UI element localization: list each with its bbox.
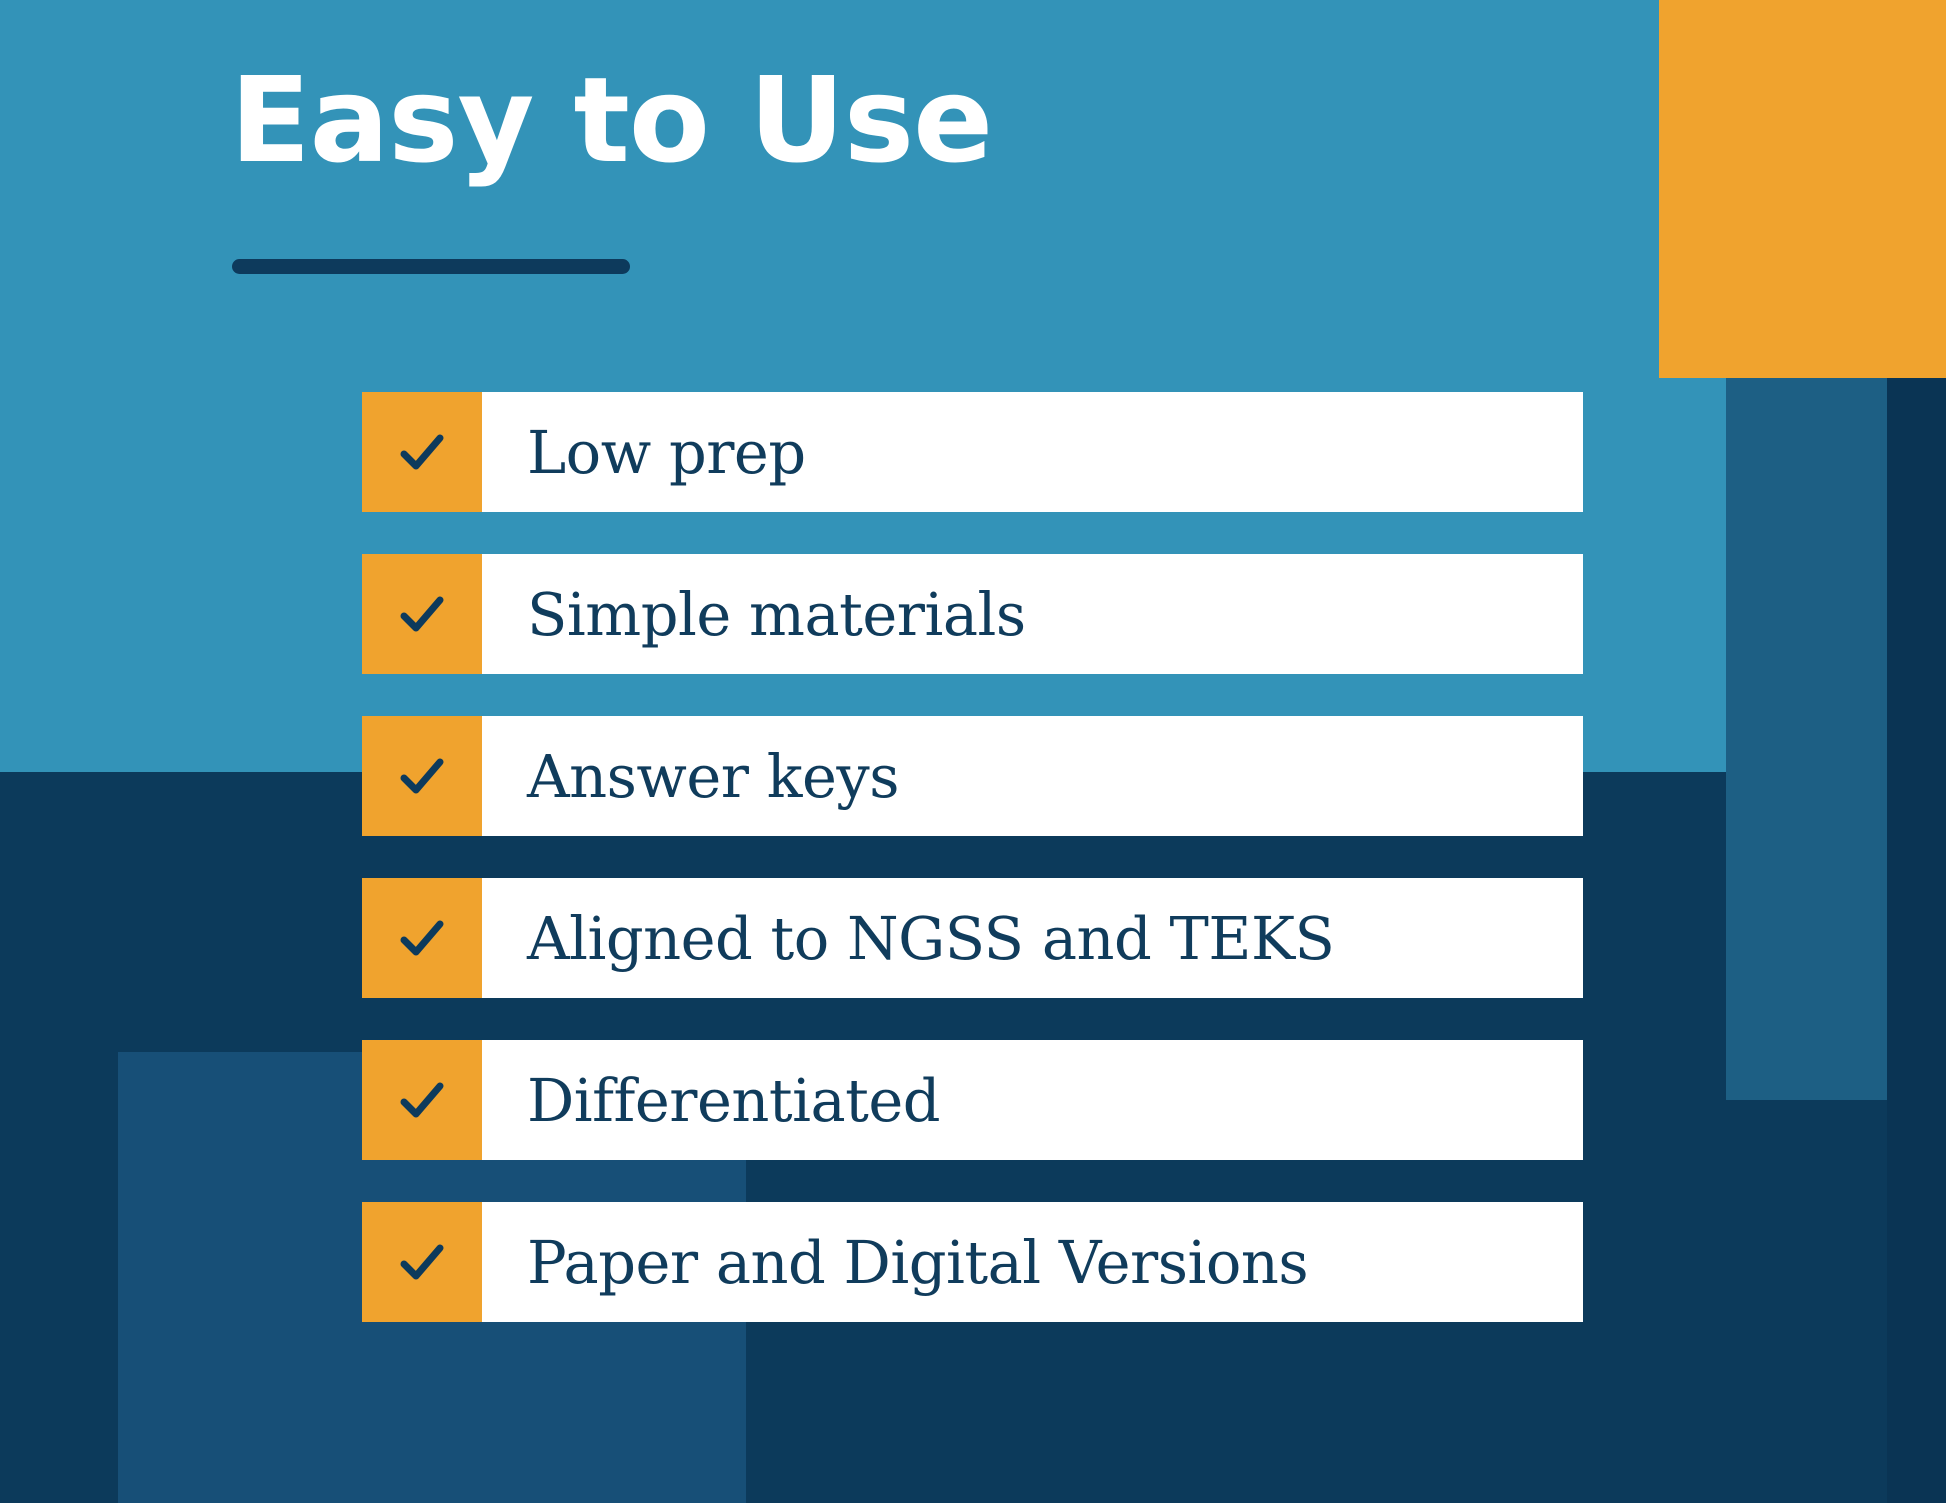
check-icon <box>394 1234 450 1290</box>
list-item-label: Aligned to NGSS and TEKS <box>482 878 1583 998</box>
list-item-label: Low prep <box>482 392 1583 512</box>
list-item: Paper and Digital Versions <box>362 1202 1583 1322</box>
list-item: Aligned to NGSS and TEKS <box>362 878 1583 998</box>
list-item: Low prep <box>362 392 1583 512</box>
check-icon <box>394 1072 450 1128</box>
checkbox-cell <box>362 1202 482 1322</box>
background-blue-right-column <box>1726 378 1887 1100</box>
background-navy-right-column <box>1887 378 1946 1503</box>
feature-checklist: Low prep Simple materials Answer keys <box>362 392 1583 1322</box>
check-icon <box>394 748 450 804</box>
check-icon <box>394 910 450 966</box>
page-title: Easy to Use <box>230 54 1430 186</box>
checkbox-cell <box>362 1040 482 1160</box>
list-item-label: Simple materials <box>482 554 1583 674</box>
checkbox-cell <box>362 554 482 674</box>
checkbox-cell <box>362 392 482 512</box>
list-item-label: Differentiated <box>482 1040 1583 1160</box>
poster-canvas: Easy to Use Low prep Simple materials <box>0 0 1946 1503</box>
list-item-label: Answer keys <box>482 716 1583 836</box>
list-item-label: Paper and Digital Versions <box>482 1202 1583 1322</box>
list-item: Simple materials <box>362 554 1583 674</box>
list-item: Differentiated <box>362 1040 1583 1160</box>
background-orange-block <box>1659 0 1946 378</box>
title-container: Easy to Use <box>230 54 1430 186</box>
check-icon <box>394 424 450 480</box>
list-item: Answer keys <box>362 716 1583 836</box>
check-icon <box>394 586 450 642</box>
checkbox-cell <box>362 878 482 998</box>
title-underline-rule <box>232 259 630 274</box>
checkbox-cell <box>362 716 482 836</box>
